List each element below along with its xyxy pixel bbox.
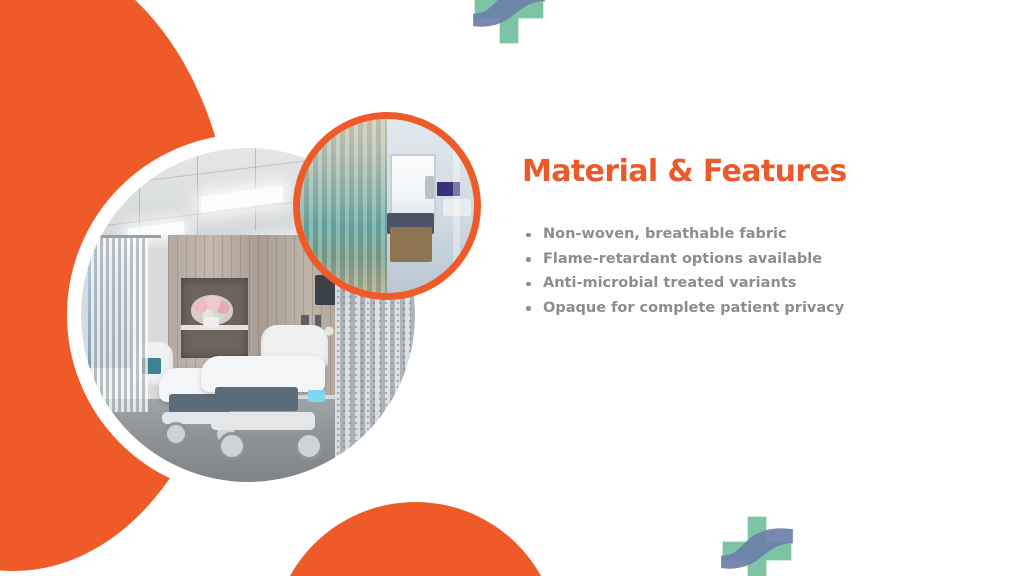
wall-dispenser	[425, 176, 434, 199]
teal-privacy-curtain	[300, 119, 387, 293]
list-item: Flame-retardant options available	[522, 247, 972, 272]
bed-wheel	[218, 432, 246, 460]
list-item: Opaque for complete patient privacy	[522, 296, 972, 321]
list-item: Anti-microbial treated variants	[522, 271, 972, 296]
bed-side-panel	[215, 387, 299, 411]
hospital-bed	[191, 325, 358, 465]
door-edge	[453, 119, 460, 293]
feature-list: Non-woven, breathable fabric Flame-retar…	[522, 222, 972, 320]
list-item: Non-woven, breathable fabric	[522, 222, 972, 247]
slide-title: Material & Features	[522, 155, 972, 188]
bed-wheel	[295, 432, 323, 460]
privacy-curtain-photo	[293, 112, 481, 300]
privacy-curtain-scene	[300, 119, 474, 293]
medical-cross-logo-top	[470, 0, 548, 48]
text-column: Material & Features Non-woven, breathabl…	[522, 155, 972, 320]
bench-seat	[390, 227, 432, 262]
bed-monitor-screen	[308, 390, 325, 403]
bed-base	[211, 412, 315, 430]
slide-canvas: Material & Features Non-woven, breathabl…	[0, 0, 1024, 576]
privacy-curtain	[91, 238, 148, 412]
bed-wheel	[164, 422, 188, 446]
orange-circle-bottom	[272, 502, 559, 576]
medical-cross-logo-bottom	[718, 512, 796, 576]
